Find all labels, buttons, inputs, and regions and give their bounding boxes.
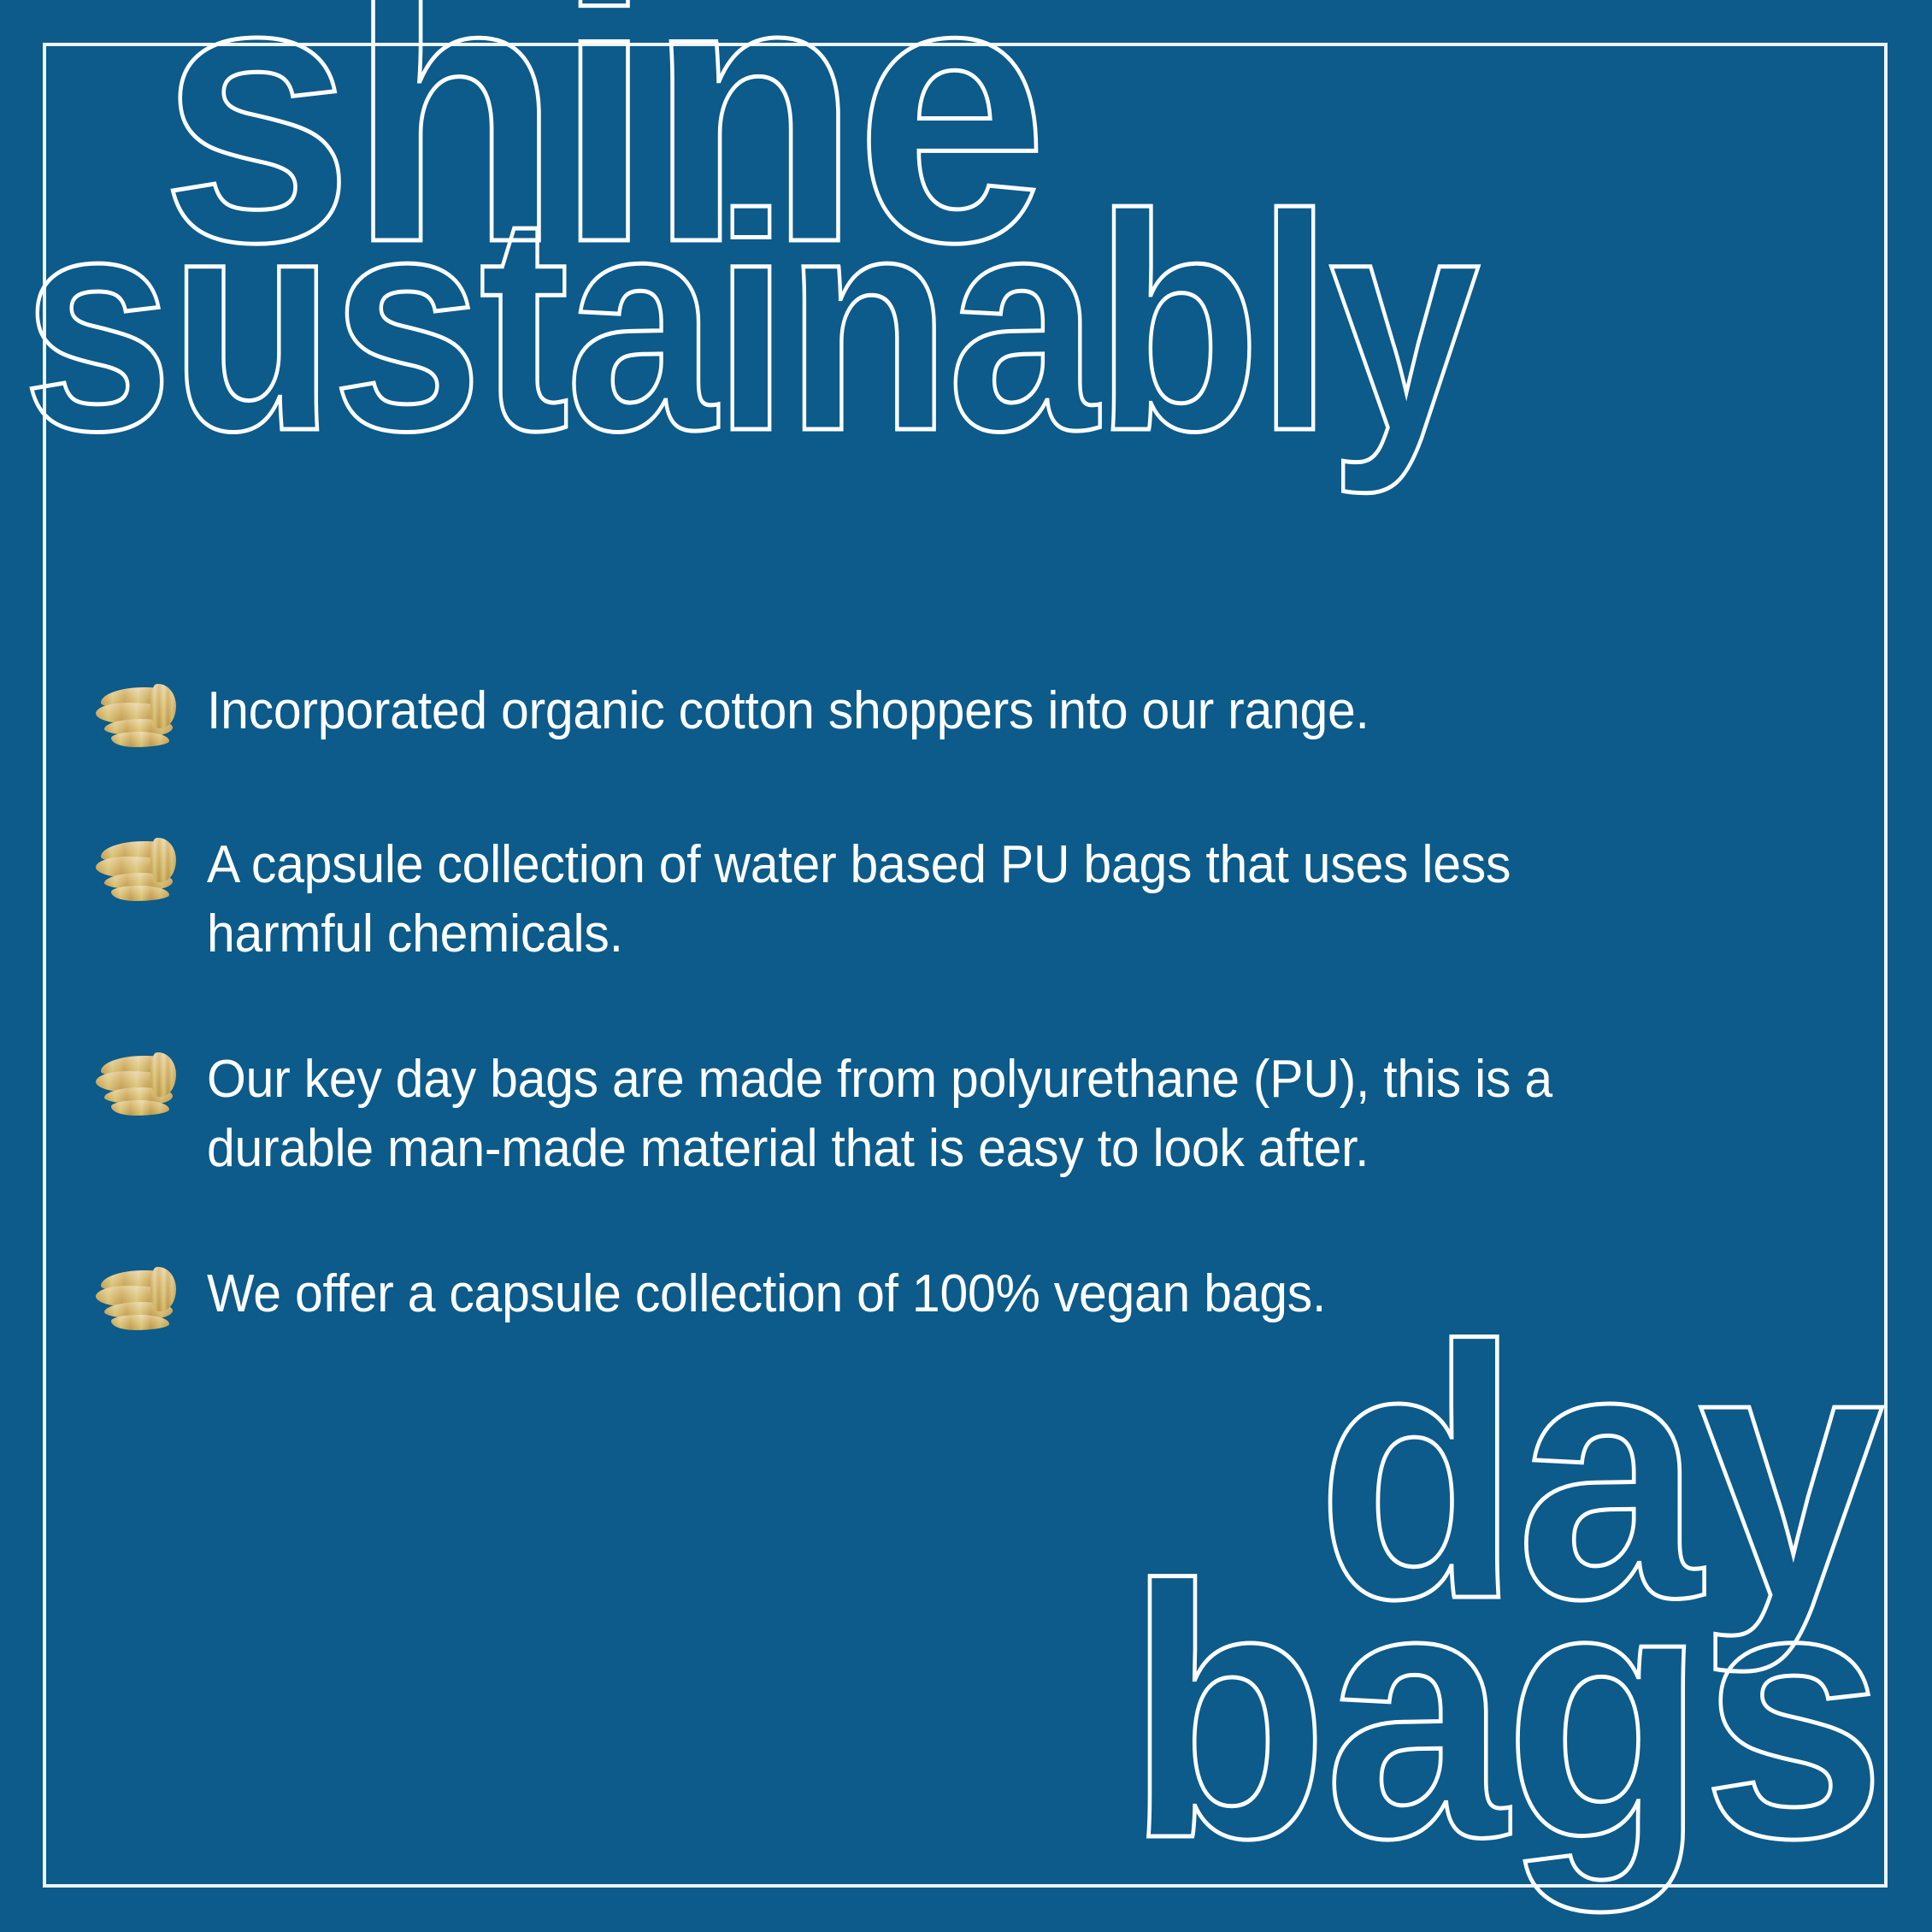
footer-headline-word-bags: bags	[1127, 1573, 1882, 1853]
list-item-text: Our key day bags are made from polyureth…	[207, 1046, 1629, 1183]
headline-word-sustainably: sustainably	[22, 203, 1476, 444]
gold-brush-stroke-icon	[96, 684, 180, 754]
list-item-text: A capsule collection of water based PU b…	[207, 831, 1629, 969]
gold-brush-stroke-icon	[96, 1267, 180, 1337]
poster-canvas: shine sustainably Incorporated organic c…	[0, 0, 1932, 1932]
sustainability-bullet-list: Incorporated organic cotton shoppers int…	[96, 677, 1703, 1337]
gold-brush-stroke-icon	[96, 838, 180, 908]
list-item-text: Incorporated organic cotton shoppers int…	[207, 677, 1369, 746]
list-item: Our key day bags are made from polyureth…	[96, 1046, 1703, 1183]
list-item: Incorporated organic cotton shoppers int…	[96, 677, 1703, 754]
list-item: A capsule collection of water based PU b…	[96, 831, 1703, 969]
gold-brush-stroke-icon	[96, 1052, 180, 1122]
list-item-text: We offer a capsule collection of 100% ve…	[207, 1260, 1326, 1329]
